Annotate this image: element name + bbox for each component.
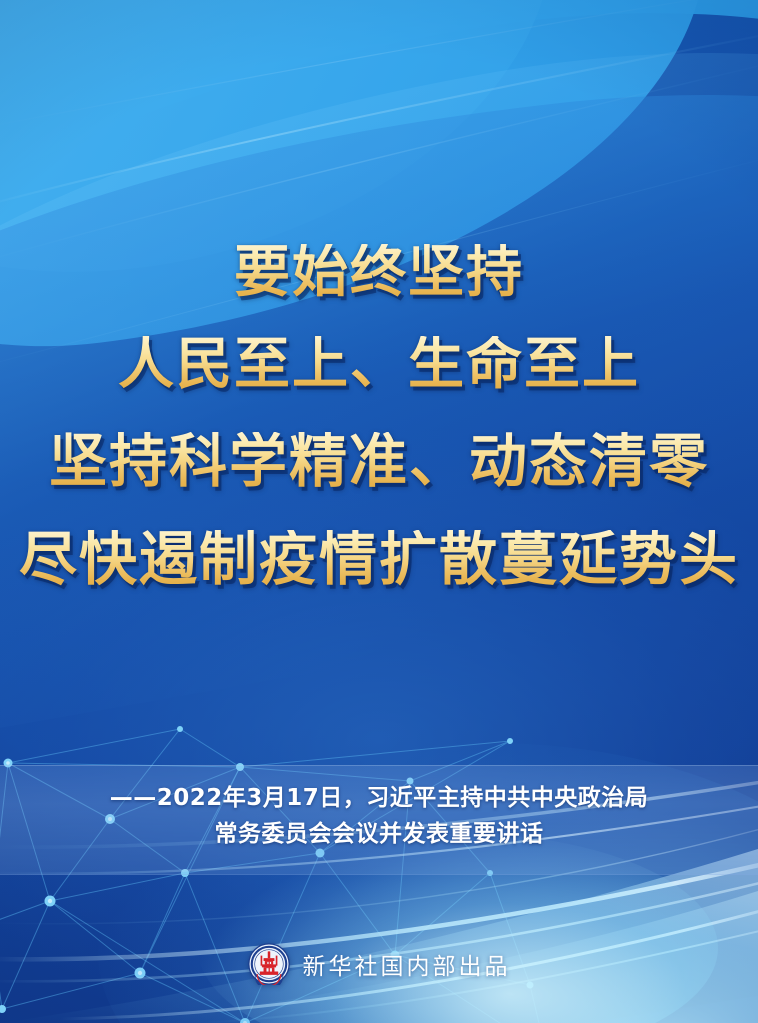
footer-block: 新华社国内部出品 xyxy=(0,943,758,985)
headline-line-4: 尽快遏制疫情扩散蔓延势头 xyxy=(0,530,758,588)
headline-line-1: 要始终坚持 xyxy=(0,244,758,300)
headline-block: 要始终坚持 人民至上、生命至上 坚持科学精准、动态清零 尽快遏制疫情扩散蔓延势头 xyxy=(0,244,758,588)
headline-line-3: 坚持科学精准、动态清零 xyxy=(0,432,758,490)
caption-line-2: 常务委员会会议并发表重要讲话 xyxy=(0,817,758,853)
caption-block: ——2022年3月17日，习近平主持中共中央政治局 常务委员会会议并发表重要讲话 xyxy=(0,781,758,852)
caption-line-1: ——2022年3月17日，习近平主持中共中央政治局 xyxy=(0,781,758,817)
footer-credit-label: 新华社国内部出品 xyxy=(303,947,511,981)
poster-canvas: 要始终坚持 人民至上、生命至上 坚持科学精准、动态清零 尽快遏制疫情扩散蔓延势头… xyxy=(0,0,758,1023)
xinhua-agency-logo-icon xyxy=(248,943,290,985)
headline-line-2: 人民至上、生命至上 xyxy=(0,336,758,392)
